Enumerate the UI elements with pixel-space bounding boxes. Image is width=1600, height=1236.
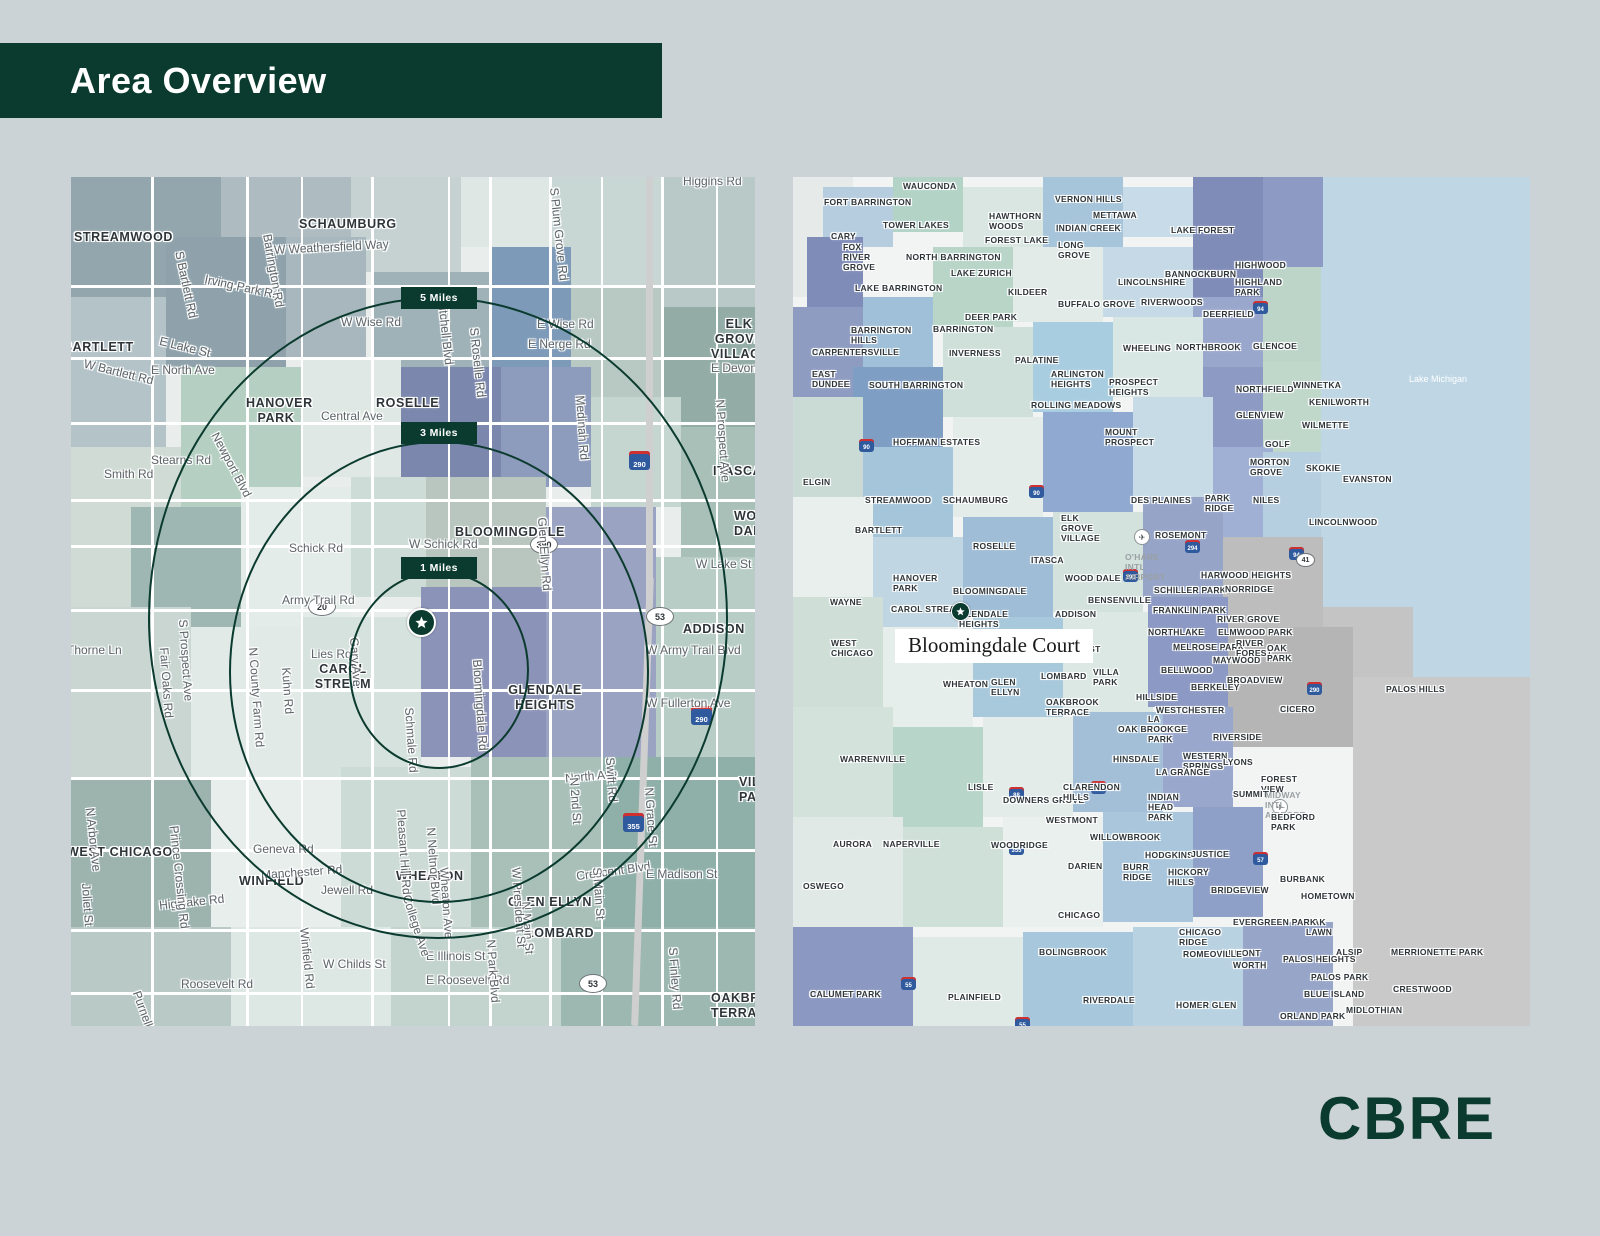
tract-polygon — [933, 247, 1013, 327]
tract-polygon — [793, 817, 903, 927]
tract-polygon — [1163, 707, 1233, 807]
property-callout: Bloomingdale Court — [895, 629, 1093, 663]
tract-polygon — [1263, 452, 1321, 547]
ring-label-5mi: 5 Miles — [401, 287, 477, 309]
tract-polygon — [1113, 317, 1203, 397]
regional-map-canvas: Lake Michigan — [793, 177, 1530, 1026]
state-route-shield-41: 41 — [1296, 553, 1315, 567]
tract-polygon — [1013, 247, 1103, 322]
cbre-logo: CBRE — [1318, 1089, 1496, 1149]
tract-polygon — [351, 177, 461, 272]
tract-polygon — [793, 707, 893, 817]
tract-polygon — [793, 397, 863, 497]
interstate-shield-290: 290 — [1307, 682, 1322, 695]
road-line — [71, 992, 755, 995]
radius-map-canvas: 290 290 355 355 390 53 53 20 STREAMWOOD … — [71, 177, 755, 1026]
tract-polygon — [231, 927, 391, 1026]
property-name-label: Bloomingdale Court — [908, 633, 1080, 657]
tract-polygon — [461, 177, 551, 247]
interstate-shield-294: 294 — [1091, 781, 1106, 794]
tract-polygon — [1223, 537, 1323, 627]
tract-polygon — [1263, 177, 1323, 267]
tract-polygon — [661, 177, 755, 307]
interstate-shield-94: 94 — [1253, 301, 1268, 314]
tract-polygon — [903, 827, 1003, 927]
tract-polygon — [963, 517, 1053, 617]
ring-label-1mi: 1 Miles — [401, 557, 477, 579]
slide-title-bar: Area Overview — [0, 43, 662, 118]
tract-polygon — [1223, 627, 1353, 747]
interstate-shield-88: 88 — [1009, 787, 1024, 800]
interstate-shield-290: 290 — [1123, 569, 1138, 582]
tract-polygon — [1103, 247, 1193, 317]
tract-polygon — [1143, 497, 1223, 597]
interstate-shield-355: 355 — [1009, 842, 1024, 855]
tract-polygon — [807, 237, 863, 307]
tract-polygon — [1043, 412, 1133, 512]
ring-label-3mi: 3 Miles — [401, 422, 477, 444]
tract-polygon — [863, 297, 933, 367]
tract-polygon — [1133, 397, 1213, 497]
property-star-pin[interactable] — [407, 608, 436, 637]
page-title: Area Overview — [70, 60, 327, 102]
interstate-shield-294: 294 — [1185, 540, 1200, 553]
water-body-label: Lake Michigan — [1398, 373, 1478, 385]
tract-polygon — [893, 177, 963, 232]
midway-airport-icon: ✈ — [1272, 799, 1288, 815]
star-icon — [956, 607, 965, 616]
interstate-shield-55: 55 — [901, 977, 916, 990]
tract-polygon — [1193, 177, 1263, 297]
tract-polygon — [1353, 677, 1530, 1026]
tract-polygon — [863, 447, 953, 537]
radius-map[interactable]: 290 290 355 355 390 53 53 20 STREAMWOOD … — [71, 177, 755, 1026]
tract-polygon — [391, 927, 561, 1026]
tract-polygon — [1263, 362, 1321, 452]
tract-polygon — [71, 777, 211, 927]
ohare-airport-icon: ✈ — [1134, 529, 1150, 545]
tract-polygon — [166, 237, 286, 367]
tract-polygon — [793, 497, 873, 597]
tract-polygon — [793, 927, 913, 1026]
interstate-shield-55: 55 — [1015, 1017, 1030, 1026]
star-icon — [415, 616, 428, 629]
tract-polygon — [1043, 177, 1123, 247]
tract-polygon — [953, 417, 1043, 517]
tract-polygon — [1243, 922, 1333, 1026]
tract-polygon — [1053, 512, 1143, 612]
tract-polygon — [853, 367, 943, 447]
tract-polygon — [963, 187, 1043, 247]
state-route-shield-53: 53 — [579, 974, 607, 993]
tract-polygon — [893, 727, 983, 827]
tract-polygon — [913, 937, 1023, 1026]
tract-polygon — [1263, 267, 1321, 367]
tract-polygon — [983, 717, 1073, 817]
interstate-shield-90: 90 — [1029, 485, 1044, 498]
tract-polygon — [1003, 817, 1103, 927]
interstate-shield-90: 90 — [859, 439, 874, 452]
tract-polygon — [1033, 322, 1113, 412]
tract-polygon — [873, 537, 963, 627]
water-label-text: Lake Michigan — [1409, 374, 1467, 384]
tract-polygon — [1023, 932, 1133, 1026]
tract-polygon — [943, 327, 1033, 417]
property-star-pin[interactable] — [951, 602, 970, 621]
tract-polygon — [1073, 712, 1163, 812]
regional-map[interactable]: Lake Michigan — [793, 177, 1530, 1026]
tract-polygon — [1123, 187, 1193, 237]
interstate-shield-57: 57 — [1253, 852, 1268, 865]
radius-ring-1mi — [349, 571, 529, 769]
tract-polygon — [1148, 597, 1228, 707]
tract-polygon — [221, 177, 351, 237]
tract-polygon — [793, 597, 883, 707]
tract-polygon — [1103, 812, 1193, 922]
tract-polygon — [1133, 927, 1243, 1026]
